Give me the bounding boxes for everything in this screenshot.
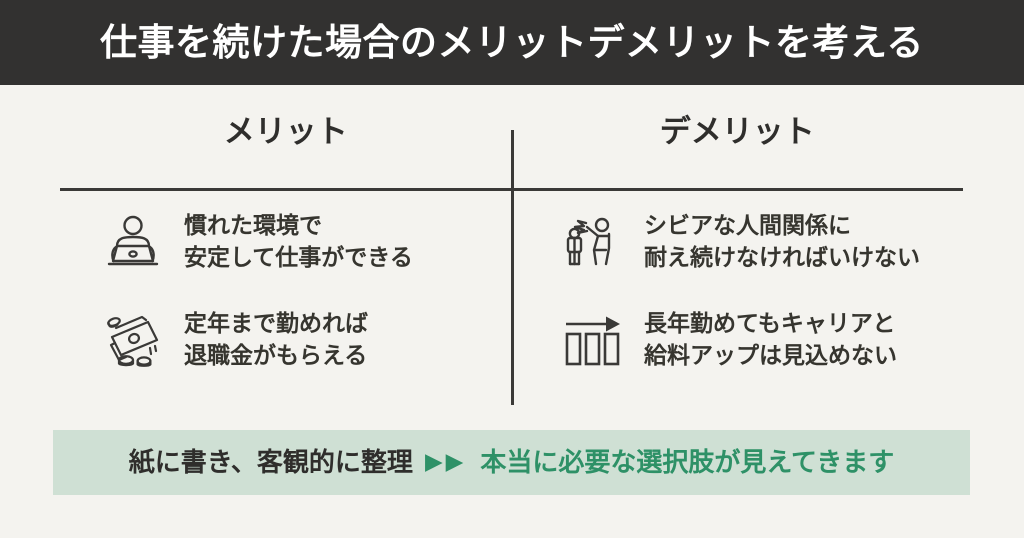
summary-banner: 紙に書き、客観的に整理 ▶▶ 本当に必要な選択肢が見えてきます: [53, 430, 970, 495]
page-title: 仕事を続けた場合のメリットデメリットを考える: [100, 24, 924, 61]
flat-bars-arrow-icon: [560, 308, 626, 374]
list-item-line2: 給料アップは見込めない: [644, 343, 897, 369]
demerit-column: シビアな人間関係に 耐え続けなければいけない 長年勤めてもキャリアと: [512, 207, 1024, 403]
header-bar: 仕事を続けた場合のメリットデメリットを考える: [0, 0, 1024, 85]
list-item-line2: 耐え続けなければいけない: [644, 245, 920, 271]
list-item: シビアな人間関係に 耐え続けなければいけない: [560, 207, 1024, 279]
angry-person-icon: [560, 210, 626, 276]
points-columns: 慣れた環境で 安定して仕事ができる: [0, 207, 1024, 403]
merit-column: 慣れた環境で 安定して仕事ができる: [0, 207, 512, 403]
list-item-line1: 長年勤めてもキャリアと: [644, 311, 895, 337]
list-item-text: シビアな人間関係に 耐え続けなければいけない: [644, 211, 920, 274]
person-laptop-icon: [100, 210, 166, 276]
list-item-line1: シビアな人間関係に: [644, 213, 851, 239]
list-item-text: 長年勤めてもキャリアと 給料アップは見込めない: [644, 309, 897, 372]
list-item: 慣れた環境で 安定して仕事ができる: [100, 207, 512, 279]
list-item-text: 慣れた環境で 安定して仕事ができる: [184, 211, 413, 274]
double-arrow-icon: ▶▶: [425, 451, 466, 474]
column-heading-merit: メリット: [60, 117, 512, 148]
list-item-line1: 慣れた環境で: [184, 213, 322, 239]
list-item: 定年まで勤めれば 退職金がもらえる: [100, 305, 512, 377]
summary-accent-text: 本当に必要な選択肢が見えてきます: [480, 450, 894, 476]
list-item: 長年勤めてもキャリアと 給料アップは見込めない: [560, 305, 1024, 377]
list-item-line2: 安定して仕事ができる: [184, 245, 413, 271]
column-heading-demerit: デメリット: [512, 117, 964, 148]
summary-lead-text: 紙に書き、客観的に整理: [129, 450, 413, 476]
list-item-text: 定年まで勤めれば 退職金がもらえる: [184, 309, 368, 372]
list-item-line2: 退職金がもらえる: [184, 343, 367, 369]
summary-banner-content: 紙に書き、客観的に整理 ▶▶ 本当に必要な選択肢が見えてきます: [129, 450, 895, 476]
list-item-line1: 定年まで勤めれば: [184, 311, 368, 337]
money-cash-icon: [100, 308, 166, 374]
